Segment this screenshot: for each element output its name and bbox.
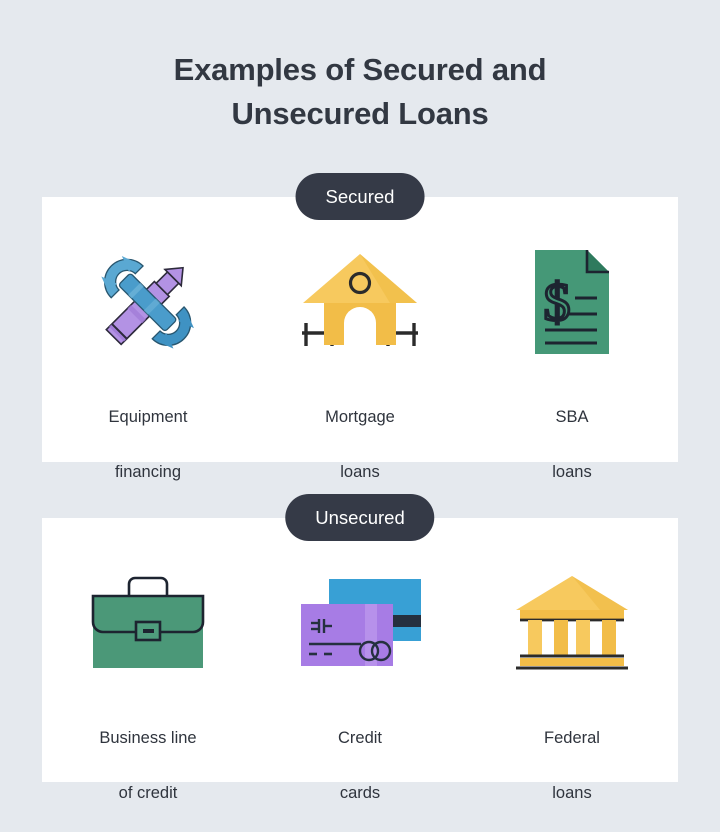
item-label-line-1: Credit <box>338 725 382 752</box>
briefcase-icon <box>83 564 213 682</box>
item-label-line-2: cards <box>338 780 382 807</box>
item-label-line-1: Equipment <box>109 404 188 431</box>
dollar-document-icon: $ <box>507 243 637 361</box>
unsecured-badge-label: Unsecured <box>315 507 404 529</box>
page-title: Examples of Secured and Unsecured Loans <box>0 48 720 136</box>
item-mortgage-loans: Mortgage loans <box>254 243 466 513</box>
unsecured-badge: Unsecured <box>285 494 434 541</box>
item-equipment-financing: Equipment financing <box>42 243 254 513</box>
item-label: Business line of credit <box>99 698 196 832</box>
item-label-line-1: Mortgage <box>325 404 395 431</box>
item-label-line-1: Federal <box>544 725 600 752</box>
bank-building-icon <box>507 564 637 682</box>
credit-cards-icon <box>295 564 425 682</box>
item-label-line-1: SBA <box>552 404 591 431</box>
item-business-line-of-credit: Business line of credit <box>42 564 254 832</box>
svg-text:$: $ <box>544 272 571 332</box>
page-title-line-2: Unsecured Loans <box>0 92 720 136</box>
item-label-line-2: loans <box>552 459 591 486</box>
item-label-line-2: loans <box>544 780 600 807</box>
wrench-screwdriver-icon <box>83 243 213 361</box>
item-label-line-2: of credit <box>99 780 196 807</box>
item-sba-loans: $ SBA loans <box>466 243 678 513</box>
secured-items: Equipment financing <box>42 243 678 513</box>
page-title-line-1: Examples of Secured and <box>0 48 720 92</box>
secured-badge: Secured <box>296 173 425 220</box>
item-label-line-2: loans <box>325 459 395 486</box>
item-federal-loans: Federal loans <box>466 564 678 832</box>
secured-badge-label: Secured <box>326 186 395 208</box>
item-label: Federal loans <box>544 698 600 832</box>
item-label: SBA loans <box>552 377 591 513</box>
secured-panel: Secured <box>42 197 678 462</box>
infographic-page: Examples of Secured and Unsecured Loans … <box>0 0 720 832</box>
house-icon <box>295 243 425 361</box>
unsecured-panel: Unsecured <box>42 518 678 782</box>
item-credit-cards: Credit cards <box>254 564 466 832</box>
item-label-line-2: financing <box>109 459 188 486</box>
item-label: Equipment financing <box>109 377 188 513</box>
unsecured-items: Business line of credit <box>42 564 678 832</box>
item-label: Credit cards <box>338 698 382 832</box>
item-label-line-1: Business line <box>99 725 196 752</box>
item-label: Mortgage loans <box>325 377 395 513</box>
